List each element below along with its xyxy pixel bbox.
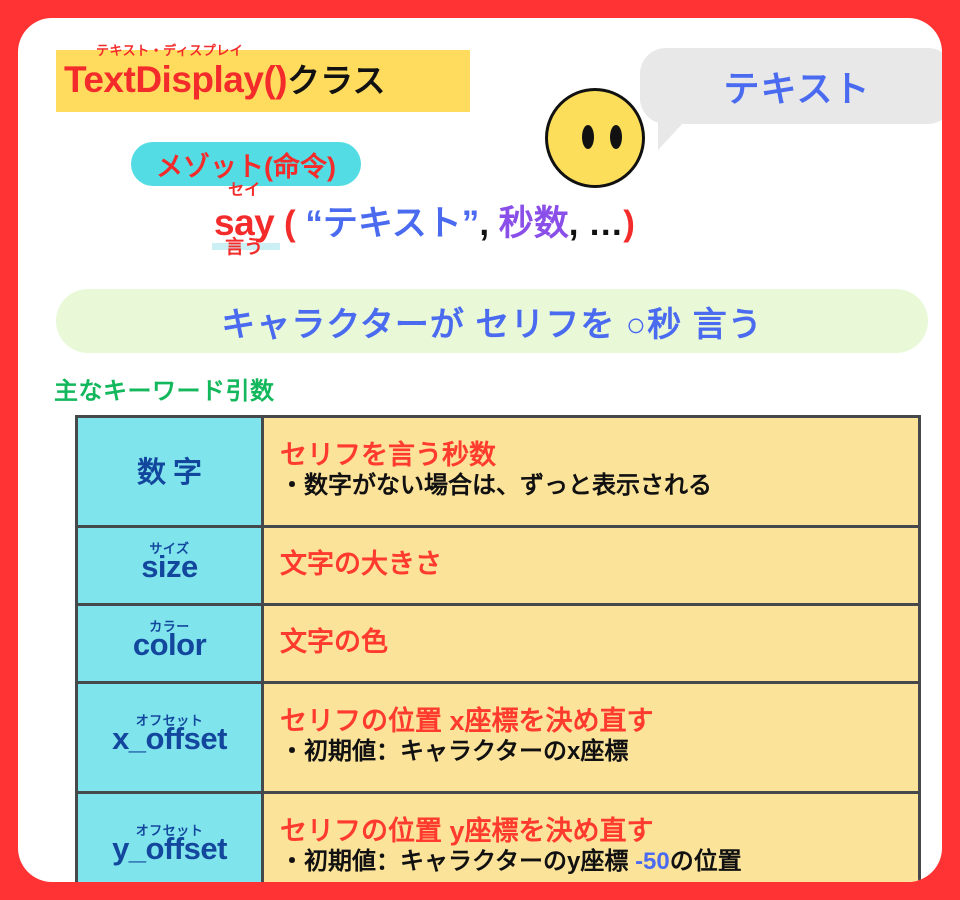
- signature-ruby: セイ: [228, 183, 260, 199]
- value-main: セリフの位置 y座標を決め直す: [280, 816, 908, 848]
- signature-comma-1: ,: [479, 204, 489, 243]
- value-main: セリフを言う秒数: [280, 440, 908, 472]
- value-note-post: の位置: [670, 848, 742, 875]
- signature-arg-text: “テキスト”: [305, 204, 479, 243]
- keyword-section-heading: 主なキーワード引数: [54, 371, 275, 406]
- key-label-wrap: サイズ size: [141, 546, 198, 584]
- table-cell-key: 数字: [77, 417, 263, 527]
- speech-bubble: テキスト: [640, 48, 942, 124]
- slide-card: テキスト・ディスプレイ TextDisplay( )クラス メゾット(命令) セ…: [18, 18, 942, 882]
- value-note: ・数字がない場合は、ずっと表示される: [280, 471, 908, 501]
- value-main: 文字の色: [280, 627, 908, 659]
- keyword-argument-table: 数字 セリフを言う秒数 ・数字がない場合は、ずっと表示される サイズ size: [75, 415, 921, 882]
- signature-ellipsis: …: [588, 204, 623, 243]
- key-label-wrap: オフセット x_offset: [112, 718, 227, 756]
- eye-right-icon: [610, 125, 622, 149]
- slide-frame: テキスト・ディスプレイ TextDisplay( )クラス メゾット(命令) セ…: [0, 0, 960, 900]
- key-label-ruby: サイズ: [149, 542, 189, 555]
- table-row: カラー color 文字の色: [77, 605, 920, 683]
- method-signature: セイ say 言う ( “テキスト”, 秒数, …): [214, 204, 635, 241]
- key-label-ruby: カラー: [149, 620, 190, 633]
- smiley-character-icon: [545, 88, 645, 188]
- value-main: 文字の大きさ: [280, 549, 908, 581]
- signature-arg-seconds: 秒数: [499, 204, 569, 243]
- table-cell-value: セリフの位置 y座標を決め直す ・初期値：キャラクターのy座標 -50の位置: [263, 793, 920, 883]
- table-cell-key: オフセット x_offset: [77, 683, 263, 793]
- table-row: オフセット y_offset セリフの位置 y座標を決め直す ・初期値：キャラク…: [77, 793, 920, 883]
- table-cell-value: 文字の色: [263, 605, 920, 683]
- value-note: ・初期値：キャラクターのx座標: [280, 737, 908, 767]
- value-note-highlight: -50: [635, 848, 670, 875]
- table-cell-value: セリフを言う秒数 ・数字がない場合は、ずっと表示される: [263, 417, 920, 527]
- class-title: テキスト・ディスプレイ TextDisplay( )クラス: [64, 54, 484, 102]
- value-note: ・初期値：キャラクターのy座標 -50の位置: [280, 847, 908, 877]
- description-banner-text: キャラクターが セリフを ○秒 言う: [221, 297, 763, 346]
- key-label-ruby: オフセット: [136, 824, 204, 837]
- eye-left-icon: [582, 125, 594, 149]
- value-main: セリフの位置 x座標を決め直す: [280, 706, 908, 738]
- table-cell-value: セリフの位置 x座標を決め直す ・初期値：キャラクターのx座標: [263, 683, 920, 793]
- table-cell-value: 文字の大きさ: [263, 527, 920, 605]
- class-title-suffix: クラス: [287, 62, 385, 99]
- table-row: 数字 セリフを言う秒数 ・数字がない場合は、ずっと表示される: [77, 417, 920, 527]
- signature-close-paren: ): [623, 204, 635, 243]
- table-row: オフセット x_offset セリフの位置 x座標を決め直す ・初期値：キャラク…: [77, 683, 920, 793]
- signature-comma-2: ,: [569, 204, 579, 243]
- class-title-ruby: テキスト・ディスプレイ: [96, 44, 243, 57]
- key-label-ruby: オフセット: [136, 714, 204, 727]
- table-cell-key: サイズ size: [77, 527, 263, 605]
- speech-bubble-tail: [658, 122, 698, 150]
- table-cell-key: カラー color: [77, 605, 263, 683]
- method-badge: メゾット(命令): [131, 142, 361, 186]
- signature-name-wrap: セイ say 言う: [214, 204, 274, 241]
- class-title-latin-close: ): [275, 59, 287, 100]
- table-row: サイズ size 文字の大きさ: [77, 527, 920, 605]
- key-label: 数字: [130, 458, 209, 490]
- value-note-pre: ・初期値：キャラクターのy座標: [280, 848, 635, 875]
- signature-meaning: 言う: [225, 238, 263, 257]
- class-title-latin: TextDisplay(: [64, 59, 275, 100]
- class-title-latin-wrap: テキスト・ディスプレイ TextDisplay(: [64, 59, 275, 101]
- method-badge-label: メゾット(命令): [156, 145, 336, 184]
- key-label-wrap: 数字: [130, 454, 209, 490]
- key-label-wrap: カラー color: [133, 624, 206, 662]
- table-cell-key: オフセット y_offset: [77, 793, 263, 883]
- description-banner: キャラクターが セリフを ○秒 言う: [56, 289, 928, 353]
- speech-bubble-text: テキスト: [724, 60, 871, 112]
- key-label-wrap: オフセット y_offset: [112, 828, 227, 866]
- signature-open-paren: (: [284, 204, 296, 243]
